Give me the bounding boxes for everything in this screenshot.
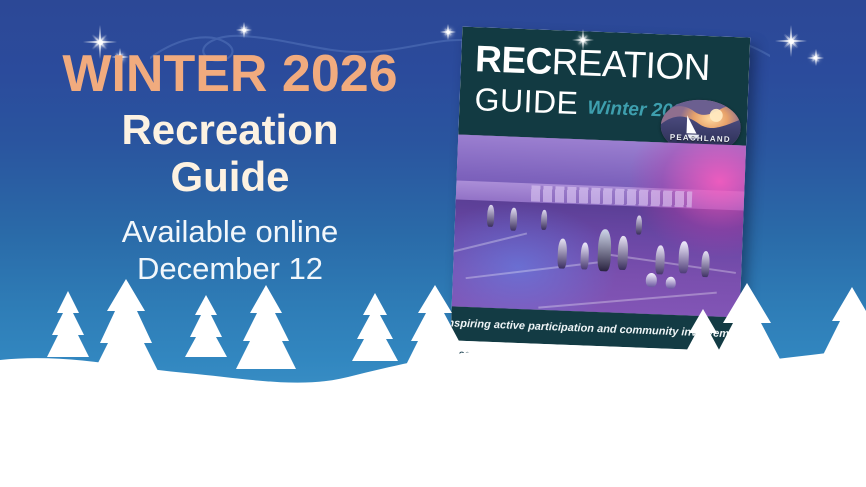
cover-title-reation: REATION — [551, 41, 711, 88]
contact-instagram-label: @peachlandrecreation — [477, 375, 558, 387]
facebook-icon — [554, 382, 570, 398]
website-icon — [648, 386, 664, 402]
availability-line-1: Available online — [0, 214, 460, 251]
cover-title-line1: RECREATION — [475, 40, 711, 86]
instagram-icon — [458, 372, 474, 388]
page-title-season-year: WINTER 2026 — [0, 48, 460, 100]
headline-block: WINTER 2026 Recreation Guide Available o… — [0, 48, 460, 287]
contact-heading: CONTACT & MORE INFO — [459, 350, 555, 363]
email-icon — [555, 358, 571, 374]
cover-contact-strip: CONTACT & MORE INFO @peachlandrecreation… — [448, 340, 738, 419]
contact-phone-label: 250-767-2133 — [668, 366, 715, 377]
recreation-guide-cover[interactable]: RECREATION GUIDE Winter 2026 — [448, 27, 750, 420]
cover-photo-roller-rink — [452, 135, 746, 318]
contact-website-label: www.peachland.ca — [667, 390, 734, 402]
winter-recreation-guide-poster: WINTER 2026 Recreation Guide Available o… — [0, 0, 866, 487]
contact-item-facebook[interactable]: Peachland Recreation — [554, 382, 652, 401]
cover-title-rec: REC — [474, 38, 552, 82]
contact-item-instagram[interactable]: @peachlandrecreation — [458, 372, 558, 391]
availability-line-2: December 12 — [0, 251, 460, 288]
contact-facebook-label: Peachland Recreation — [573, 386, 652, 398]
cover-header-band: RECREATION GUIDE Winter 2026 — [458, 27, 750, 146]
phone-icon — [649, 362, 665, 378]
page-title-recreation: Recreation — [0, 106, 460, 153]
contact-item-phone[interactable]: 250-767-2133 — [649, 362, 715, 380]
cover-tagline-text: Inspiring active participation and commu… — [448, 317, 746, 341]
page-title-guide: Guide — [0, 153, 460, 200]
contact-item-website[interactable]: www.peachland.ca — [648, 386, 734, 404]
cover-title-line2: GUIDE — [474, 83, 579, 119]
